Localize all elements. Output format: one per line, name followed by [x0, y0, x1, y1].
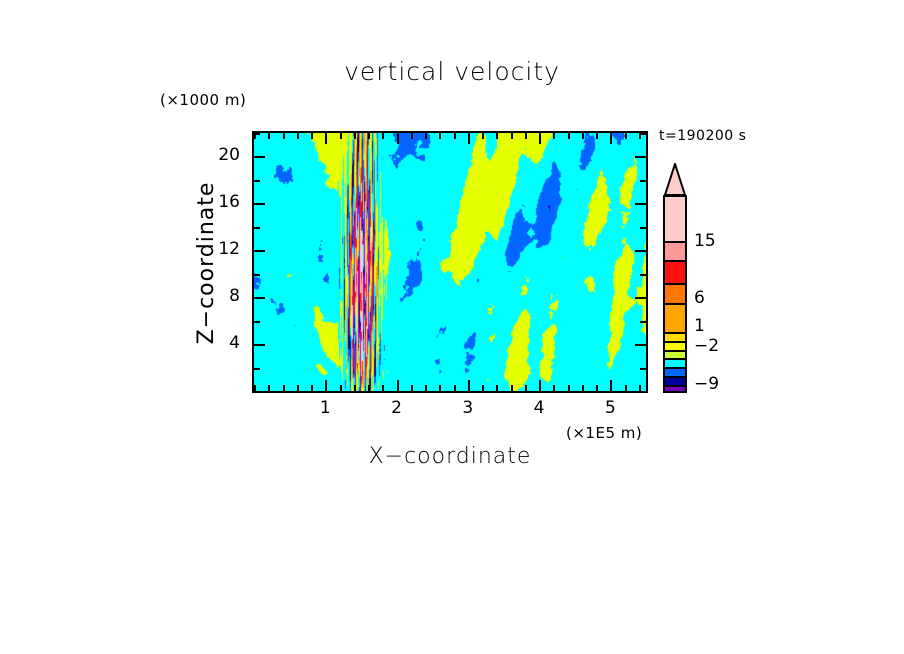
colorbar-label: 6: [694, 288, 705, 308]
contour-plot-area: [252, 131, 648, 393]
y-axis-unit-label: (×1000 m): [160, 91, 246, 109]
x-axis-unit-label: (×1E5 m): [566, 424, 642, 442]
colorbar-label: 1: [694, 316, 705, 336]
colorbar-label: −9: [694, 374, 719, 394]
x-tick-label: 2: [382, 398, 412, 418]
colorbar-band: [665, 303, 685, 332]
colorbar-band: [665, 385, 685, 393]
x-tick-label: 3: [453, 398, 483, 418]
x-tick-label: 1: [310, 398, 340, 418]
colorbar: [663, 195, 687, 393]
y-tick-label: 4: [210, 333, 240, 353]
colorbar-label: −2: [694, 336, 719, 356]
vertical-velocity-field: [254, 133, 646, 391]
figure-canvas: vertical velocity (×1000 m) t=190200 s Z…: [0, 0, 904, 654]
colorbar-band: [665, 376, 685, 385]
y-tick-label: 12: [210, 239, 240, 259]
colorbar-band: [665, 241, 685, 260]
colorbar-label: 15: [694, 231, 716, 251]
y-tick-label: 16: [210, 192, 240, 212]
x-tick-label: 5: [595, 398, 625, 418]
y-tick-label: 8: [210, 286, 240, 306]
colorbar-band: [665, 197, 685, 241]
colorbar-band: [665, 341, 685, 350]
colorbar-arrow-tip: [663, 163, 687, 196]
colorbar-band: [665, 283, 685, 303]
timestamp-annotation: t=190200 s: [659, 128, 746, 144]
colorbar-band: [665, 260, 685, 283]
colorbar-band: [665, 332, 685, 341]
x-axis-title: X−coordinate: [252, 444, 648, 469]
colorbar-band: [665, 367, 685, 376]
y-tick-label: 20: [210, 145, 240, 165]
x-tick-label: 4: [524, 398, 554, 418]
colorbar-band: [665, 350, 685, 358]
page-title: vertical velocity: [0, 57, 904, 86]
colorbar-band: [665, 358, 685, 367]
